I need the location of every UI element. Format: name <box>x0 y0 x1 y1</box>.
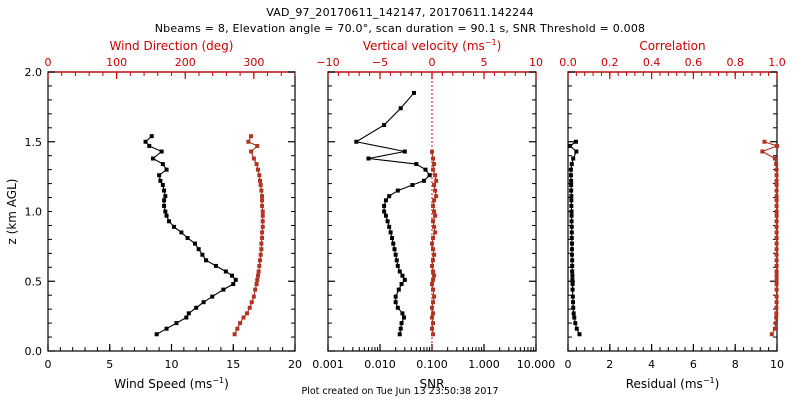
data-point-marker <box>569 183 573 187</box>
data-point-marker <box>256 168 260 172</box>
data-point-marker <box>431 156 435 160</box>
data-point-marker <box>147 144 151 148</box>
plot-canvas: VAD_97_20170611_142147, 20170611.142244 … <box>0 0 800 400</box>
data-point-marker <box>431 247 435 251</box>
data-point-marker <box>184 316 188 320</box>
data-point-marker <box>255 144 259 148</box>
data-point-marker <box>248 306 252 310</box>
y-tick-label: 1.5 <box>25 136 43 149</box>
data-point-marker <box>167 219 171 223</box>
data-point-marker <box>260 194 264 198</box>
data-point-marker <box>174 321 178 325</box>
data-point-marker <box>432 183 436 187</box>
data-point-marker <box>431 300 435 304</box>
data-point-marker <box>179 230 183 234</box>
data-point-marker <box>260 230 264 234</box>
y-axis-label: z (km AGL) <box>5 179 19 245</box>
top-tick-label: 0 <box>429 56 436 69</box>
data-point-marker <box>233 332 237 336</box>
data-point-marker <box>434 179 438 183</box>
data-point-marker <box>570 242 574 246</box>
data-point-marker <box>235 327 239 331</box>
data-point-marker <box>569 173 573 177</box>
data-point-marker <box>570 269 574 273</box>
data-point-marker <box>396 306 400 310</box>
data-point-marker <box>569 198 573 202</box>
data-point-marker <box>412 91 416 95</box>
data-point-marker <box>431 311 435 315</box>
data-point-marker <box>571 300 575 304</box>
data-point-marker <box>386 219 390 223</box>
series-line <box>146 136 236 334</box>
top-tick-label: 0.6 <box>685 56 703 69</box>
data-point-marker <box>397 288 401 292</box>
data-point-marker <box>430 306 434 310</box>
data-point-marker <box>775 210 779 214</box>
data-point-marker <box>400 282 404 286</box>
bottom-tick-label: 15 <box>226 358 240 371</box>
panel-frame <box>48 72 295 351</box>
data-point-marker <box>410 183 414 187</box>
data-point-marker <box>430 264 434 268</box>
data-point-marker <box>396 189 400 193</box>
data-point-marker <box>259 253 263 257</box>
data-point-marker <box>394 253 398 257</box>
panel-3: 02468100.00.20.40.60.81.0Residual (ms−1)… <box>559 39 786 391</box>
data-point-marker <box>431 219 435 223</box>
data-point-marker <box>193 242 197 246</box>
data-point-marker <box>256 274 260 278</box>
data-point-marker <box>570 258 574 262</box>
x-axis-label-top: Wind Direction (deg) <box>110 39 234 53</box>
data-point-marker <box>403 278 407 282</box>
data-point-marker <box>394 300 398 304</box>
data-point-marker <box>395 258 399 262</box>
data-point-marker <box>259 189 263 193</box>
bottom-tick-label: 6 <box>690 358 697 371</box>
data-point-marker <box>570 278 574 282</box>
data-point-marker <box>230 274 234 278</box>
data-point-marker <box>165 327 169 331</box>
data-point-marker <box>249 134 253 138</box>
data-point-marker <box>574 140 578 144</box>
data-point-marker <box>391 242 395 246</box>
bottom-tick-label: 0.001 <box>312 358 344 371</box>
data-point-marker <box>433 214 437 218</box>
data-point-marker <box>258 258 262 262</box>
data-point-marker <box>774 162 778 166</box>
data-point-marker <box>252 295 256 299</box>
data-point-marker <box>403 150 407 154</box>
data-point-marker <box>430 282 434 286</box>
data-point-marker <box>774 306 778 310</box>
bottom-tick-label: 0.010 <box>364 358 396 371</box>
data-point-marker <box>569 168 573 172</box>
data-point-marker <box>773 327 777 331</box>
data-point-marker <box>150 134 154 138</box>
data-point-marker <box>259 247 263 251</box>
top-tick-label: 0.8 <box>726 56 744 69</box>
data-point-marker <box>775 179 779 183</box>
data-point-marker <box>775 189 779 193</box>
data-point-marker <box>571 288 575 292</box>
data-point-marker <box>384 214 388 218</box>
data-point-marker <box>569 179 573 183</box>
y-tick-label: 0.5 <box>25 275 43 288</box>
data-point-marker <box>258 179 262 183</box>
data-point-marker <box>570 230 574 234</box>
data-point-marker <box>570 225 574 229</box>
data-point-marker <box>570 247 574 251</box>
bottom-tick-label: 2 <box>606 358 613 371</box>
top-tick-label: 0.2 <box>601 56 619 69</box>
data-point-marker <box>392 247 396 251</box>
data-point-marker <box>382 204 386 208</box>
data-point-marker <box>165 168 169 172</box>
data-point-marker <box>162 189 166 193</box>
panel-1: 0510152001002003000.00.51.01.52.0z (km A… <box>5 39 302 391</box>
data-point-marker <box>570 253 574 257</box>
data-point-marker <box>572 316 576 320</box>
data-point-marker <box>231 282 235 286</box>
data-point-marker <box>775 198 779 202</box>
data-point-marker <box>433 189 437 193</box>
top-tick-label: −5 <box>372 56 388 69</box>
data-point-marker <box>261 214 265 218</box>
data-point-marker <box>571 295 575 299</box>
data-point-marker <box>394 295 398 299</box>
data-point-marker <box>433 173 437 177</box>
data-point-marker <box>402 316 406 320</box>
y-tick-label: 2.0 <box>25 66 43 79</box>
data-point-marker <box>775 194 779 198</box>
data-point-marker <box>210 295 214 299</box>
data-point-marker <box>428 173 432 177</box>
data-point-marker <box>253 288 257 292</box>
data-point-marker <box>575 327 579 331</box>
data-point-marker <box>432 225 436 229</box>
data-point-marker <box>414 162 418 166</box>
data-point-marker <box>775 264 779 268</box>
data-point-marker <box>433 230 437 234</box>
top-tick-label: 1.0 <box>768 56 786 69</box>
data-point-marker <box>775 288 779 292</box>
data-point-marker <box>389 230 393 234</box>
top-tick-label: 10 <box>529 56 543 69</box>
data-point-marker <box>255 162 259 166</box>
data-point-marker <box>204 258 208 262</box>
data-point-marker <box>257 264 261 268</box>
data-point-marker <box>570 210 574 214</box>
data-point-marker <box>775 219 779 223</box>
data-point-marker <box>775 183 779 187</box>
data-point-marker <box>197 247 201 251</box>
data-point-marker <box>568 144 572 148</box>
data-point-marker <box>261 225 265 229</box>
data-point-marker <box>390 236 394 240</box>
data-point-marker <box>432 253 436 257</box>
data-point-marker <box>774 311 778 315</box>
data-point-marker <box>431 332 435 336</box>
data-point-marker <box>571 156 575 160</box>
data-point-marker <box>775 236 779 240</box>
data-point-marker <box>572 311 576 315</box>
data-point-marker <box>246 140 250 144</box>
data-point-marker <box>430 242 434 246</box>
data-point-marker <box>400 274 404 278</box>
bottom-tick-label: 10.000 <box>517 358 556 371</box>
bottom-tick-label: 5 <box>106 358 113 371</box>
data-point-marker <box>775 278 779 282</box>
data-point-marker <box>775 300 779 304</box>
data-point-marker <box>255 278 259 282</box>
figure-svg: 0510152001002003000.00.51.01.52.0z (km A… <box>0 0 800 400</box>
data-point-marker <box>774 321 778 325</box>
data-point-marker <box>775 258 779 262</box>
data-point-marker <box>238 321 242 325</box>
data-point-marker <box>574 150 578 154</box>
data-point-marker <box>399 327 403 331</box>
bottom-tick-label: 0 <box>45 358 52 371</box>
data-point-marker <box>387 225 391 229</box>
data-point-marker <box>165 214 169 218</box>
data-point-marker <box>432 295 436 299</box>
data-point-marker <box>774 316 778 320</box>
data-point-marker <box>162 204 166 208</box>
data-point-marker <box>431 204 435 208</box>
data-point-marker <box>398 332 402 336</box>
data-point-marker <box>430 327 434 331</box>
data-point-marker <box>186 236 190 240</box>
data-point-marker <box>775 204 779 208</box>
data-point-marker <box>382 123 386 127</box>
y-tick-label: 1.0 <box>25 206 43 219</box>
data-point-marker <box>570 219 574 223</box>
data-point-marker <box>260 236 264 240</box>
data-point-marker <box>255 282 259 286</box>
bottom-tick-label: 20 <box>288 358 302 371</box>
data-point-marker <box>432 274 436 278</box>
data-point-marker <box>245 311 249 315</box>
data-point-marker <box>775 168 779 172</box>
data-point-marker <box>250 300 254 304</box>
data-point-marker <box>775 225 779 229</box>
y-tick-label: 0.0 <box>25 345 43 358</box>
data-point-marker <box>431 278 435 282</box>
data-point-marker <box>431 236 435 240</box>
data-point-marker <box>155 332 159 336</box>
bottom-tick-label: 0.100 <box>416 358 448 371</box>
data-point-marker <box>571 306 575 310</box>
data-point-marker <box>569 204 573 208</box>
data-point-marker <box>569 194 573 198</box>
data-point-marker <box>252 156 256 160</box>
data-point-marker <box>775 144 779 148</box>
data-point-marker <box>773 156 777 160</box>
data-point-marker <box>570 236 574 240</box>
data-point-marker <box>422 179 426 183</box>
data-point-marker <box>202 300 206 304</box>
data-point-marker <box>431 269 435 273</box>
data-point-marker <box>399 106 403 110</box>
data-point-marker <box>432 162 436 166</box>
plot-timestamp-footer: Plot created on Tue Jun 13 23:50:38 2017 <box>0 386 800 397</box>
data-point-marker <box>431 258 435 262</box>
top-tick-label: −10 <box>316 56 339 69</box>
data-point-marker <box>354 140 358 144</box>
data-point-marker <box>432 210 436 214</box>
data-point-marker <box>760 150 764 154</box>
data-point-marker <box>261 219 265 223</box>
data-point-marker <box>577 332 581 336</box>
data-point-marker <box>200 253 204 257</box>
data-point-marker <box>194 306 198 310</box>
data-point-marker <box>569 189 573 193</box>
data-point-marker <box>775 242 779 246</box>
data-point-marker <box>214 264 218 268</box>
bottom-tick-label: 1.000 <box>468 358 500 371</box>
data-point-marker <box>431 321 435 325</box>
data-point-marker <box>571 282 575 286</box>
data-point-marker <box>434 194 438 198</box>
data-point-marker <box>570 214 574 218</box>
data-point-marker <box>762 140 766 144</box>
bottom-tick-label: 10 <box>770 358 784 371</box>
data-point-marker <box>257 269 261 273</box>
bottom-tick-label: 0 <box>565 358 572 371</box>
data-point-marker <box>396 264 400 268</box>
data-point-marker <box>172 225 176 229</box>
data-point-marker <box>260 198 264 202</box>
data-point-marker <box>387 194 391 198</box>
data-point-marker <box>775 269 779 273</box>
bottom-tick-label: 8 <box>732 358 739 371</box>
data-point-marker <box>775 253 779 257</box>
top-tick-label: 0.0 <box>559 56 577 69</box>
data-point-marker <box>163 194 167 198</box>
data-point-marker <box>775 282 779 286</box>
data-point-marker <box>257 173 261 177</box>
data-point-marker <box>160 150 164 154</box>
panel-2: 0.0010.0100.1001.00010.000−10−50510SNRVe… <box>312 38 555 391</box>
data-point-marker <box>382 210 386 214</box>
data-point-marker <box>770 332 774 336</box>
data-point-marker <box>424 168 428 172</box>
data-point-marker <box>398 269 402 273</box>
data-point-marker <box>775 247 779 251</box>
top-tick-label: 300 <box>243 56 264 69</box>
data-point-marker <box>221 288 225 292</box>
data-point-marker <box>366 156 370 160</box>
data-point-marker <box>775 214 779 218</box>
data-point-marker <box>384 198 388 202</box>
data-point-marker <box>162 198 166 202</box>
data-point-marker <box>151 156 155 160</box>
data-point-marker <box>157 173 161 177</box>
top-tick-label: 0.4 <box>643 56 661 69</box>
bottom-tick-label: 4 <box>648 358 655 371</box>
data-point-marker <box>570 162 574 166</box>
top-tick-label: 0 <box>45 56 52 69</box>
bottom-tick-label: 10 <box>165 358 179 371</box>
series-line <box>356 93 429 334</box>
data-point-marker <box>187 311 191 315</box>
data-point-marker <box>161 162 165 166</box>
data-point-marker <box>570 274 574 278</box>
top-tick-label: 100 <box>106 56 127 69</box>
data-point-marker <box>775 295 779 299</box>
data-point-marker <box>431 288 435 292</box>
data-point-marker <box>400 311 404 315</box>
x-axis-label-top: Vertical velocity (ms−1) <box>363 38 502 53</box>
data-point-marker <box>144 140 148 144</box>
data-point-marker <box>163 210 167 214</box>
data-point-marker <box>242 316 246 320</box>
data-point-marker <box>224 269 228 273</box>
data-point-marker <box>430 150 434 154</box>
data-point-marker <box>775 274 779 278</box>
data-point-marker <box>259 183 263 187</box>
top-tick-label: 200 <box>175 56 196 69</box>
data-point-marker <box>775 173 779 177</box>
data-point-marker <box>432 198 436 202</box>
data-point-marker <box>430 316 434 320</box>
panel-frame <box>568 72 777 351</box>
data-point-marker <box>775 230 779 234</box>
x-axis-label-top: Correlation <box>639 39 705 53</box>
data-point-marker <box>400 321 404 325</box>
data-point-marker <box>249 150 253 154</box>
data-point-marker <box>570 264 574 268</box>
data-point-marker <box>259 242 263 246</box>
data-point-marker <box>161 183 165 187</box>
data-point-marker <box>573 321 577 325</box>
data-point-marker <box>158 179 162 183</box>
data-point-marker <box>260 204 264 208</box>
data-point-marker <box>234 278 238 282</box>
top-tick-label: 5 <box>481 56 488 69</box>
data-point-marker <box>261 210 265 214</box>
data-point-marker <box>431 168 435 172</box>
